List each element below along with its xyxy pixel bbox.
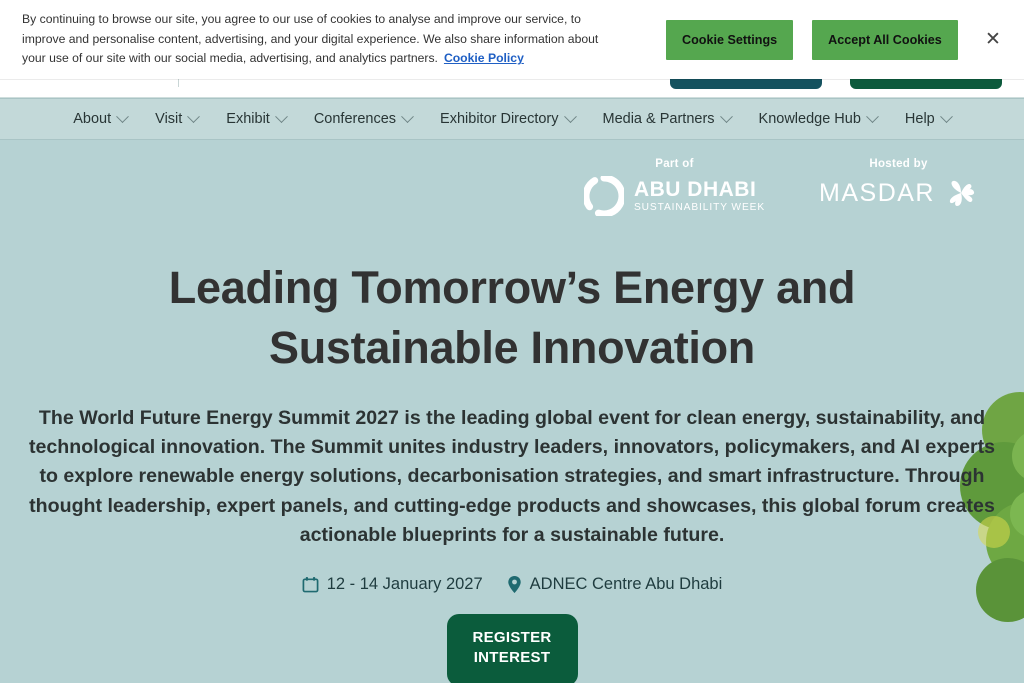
nav-item-label: Exhibit <box>226 111 270 127</box>
chevron-down-icon <box>940 110 953 123</box>
chevron-down-icon <box>564 110 577 123</box>
nav-item-label: Conferences <box>314 111 396 127</box>
event-venue: ADNEC Centre Abu Dhabi <box>507 575 723 594</box>
nav-item-label: About <box>73 111 111 127</box>
nav-item-media-partners[interactable]: Media & Partners <box>589 111 745 127</box>
chevron-down-icon <box>187 110 200 123</box>
location-pin-icon <box>507 575 522 594</box>
chevron-down-icon <box>275 110 288 123</box>
event-meta: 12 - 14 January 2027 ADNEC Centre Abu Dh… <box>0 575 1024 594</box>
cookie-settings-button[interactable]: Cookie Settings <box>666 20 793 60</box>
nav-item-exhibitor-directory[interactable]: Exhibitor Directory <box>426 111 588 127</box>
nav-item-about[interactable]: About <box>59 111 141 127</box>
nav-item-conferences[interactable]: Conferences <box>300 111 426 127</box>
cta-area: REGISTER INTEREST <box>0 614 1024 683</box>
event-date-label: 12 - 14 January 2027 <box>327 575 483 594</box>
nav-item-exhibit[interactable]: Exhibit <box>212 111 300 127</box>
register-interest-button[interactable]: REGISTER INTEREST <box>447 614 578 683</box>
cookie-consent-banner: By continuing to browse our site, you ag… <box>0 0 1024 79</box>
event-venue-label: ADNEC Centre Abu Dhabi <box>530 575 723 594</box>
nav-item-label: Help <box>905 111 935 127</box>
nav-item-label: Exhibitor Directory <box>440 111 558 127</box>
close-icon[interactable]: ✕ <box>978 25 1008 55</box>
nav-item-label: Media & Partners <box>603 111 715 127</box>
nav-item-visit[interactable]: Visit <box>141 111 212 127</box>
hero-section: Part of ABU DHABI SUSTAINABILITY WEEK Ho… <box>0 140 1024 683</box>
nav-item-label: Knowledge Hub <box>759 111 861 127</box>
nav-item-label: Visit <box>155 111 182 127</box>
chevron-down-icon <box>401 110 414 123</box>
cookie-banner-buttons: Cookie Settings Accept All Cookies <box>666 20 958 60</box>
cookie-policy-link[interactable]: Cookie Policy <box>444 51 524 65</box>
page-root: About Visit Exhibit Conferences Exhibito… <box>0 0 1024 683</box>
chevron-down-icon <box>720 110 733 123</box>
chevron-down-icon <box>116 110 129 123</box>
hero-content: Leading Tomorrow’s Energy and Sustainabl… <box>0 140 1024 683</box>
cookie-banner-text: By continuing to browse our site, you ag… <box>22 10 622 69</box>
hero-description: The World Future Energy Summit 2027 is t… <box>12 404 1012 551</box>
event-date: 12 - 14 January 2027 <box>302 575 483 594</box>
calendar-icon <box>302 576 319 593</box>
chevron-down-icon <box>866 110 879 123</box>
nav-item-knowledge-hub[interactable]: Knowledge Hub <box>745 111 891 127</box>
nav-item-help[interactable]: Help <box>891 111 965 127</box>
page-title: Leading Tomorrow’s Energy and Sustainabl… <box>112 258 912 378</box>
main-navigation: About Visit Exhibit Conferences Exhibito… <box>0 98 1024 140</box>
accept-all-cookies-button[interactable]: Accept All Cookies <box>812 20 958 60</box>
